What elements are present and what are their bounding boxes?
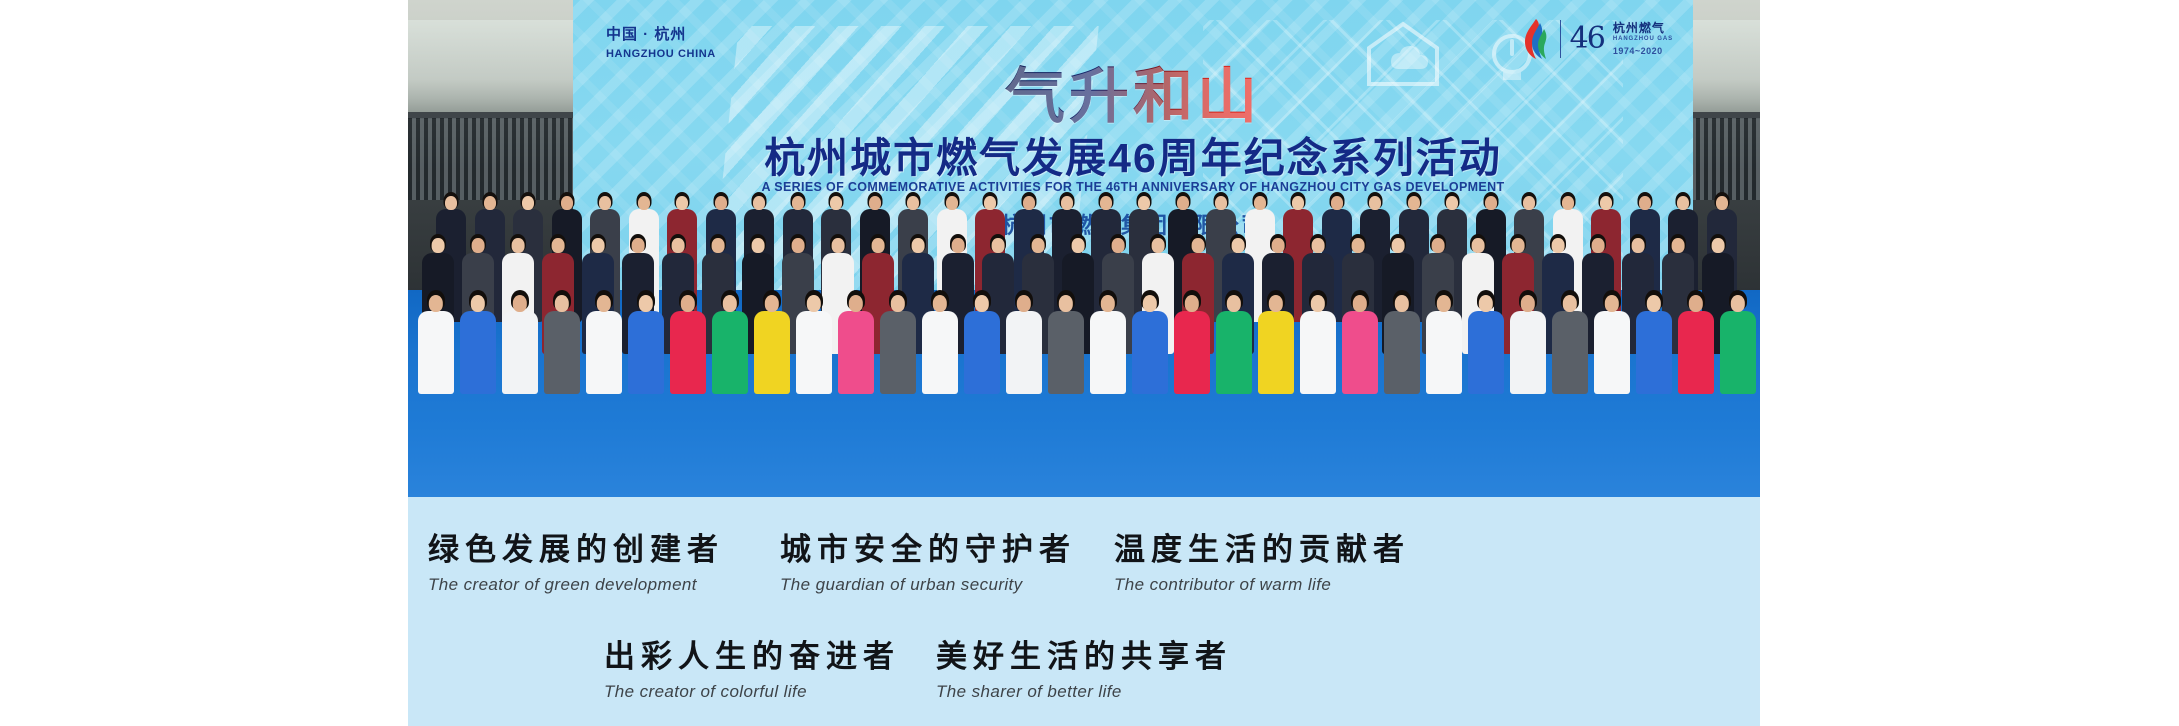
person-torso <box>1132 311 1168 394</box>
person-torso <box>544 311 580 394</box>
person-torso <box>1384 311 1420 394</box>
person-head <box>1605 295 1619 312</box>
person-torso <box>628 311 664 394</box>
person <box>1468 290 1504 394</box>
person-head <box>1512 238 1525 253</box>
person-head <box>599 196 611 210</box>
person-head <box>1311 295 1325 312</box>
person-head <box>1677 196 1689 210</box>
person-torso <box>880 311 916 394</box>
person-head <box>471 295 485 312</box>
person-head <box>676 196 688 210</box>
person-head <box>1185 295 1199 312</box>
person-head <box>1472 238 1485 253</box>
person-head <box>1632 238 1645 253</box>
person <box>796 290 832 394</box>
person-torso <box>1090 311 1126 394</box>
person-head <box>975 295 989 312</box>
slogan-cn: 美好生活的共享者 <box>936 640 1232 674</box>
person-torso <box>1258 311 1294 394</box>
slogan-en: The creator of colorful life <box>604 682 900 702</box>
person-head <box>638 196 650 210</box>
person-torso <box>922 311 958 394</box>
person <box>1510 290 1546 394</box>
person-head <box>912 238 925 253</box>
logo-name-cn: 杭州燃气 <box>1613 21 1673 36</box>
person-head <box>552 238 565 253</box>
group-photo-crowd <box>408 170 1760 400</box>
person-head <box>869 196 881 210</box>
person <box>1720 290 1756 394</box>
person-head <box>807 295 821 312</box>
person-head <box>1731 295 1745 312</box>
person <box>922 290 958 394</box>
person-head <box>1112 238 1125 253</box>
person-head <box>1138 196 1150 210</box>
person <box>1594 290 1630 394</box>
person-torso <box>1300 311 1336 394</box>
person <box>1132 290 1168 394</box>
slogan-en: The creator of green development <box>428 575 724 595</box>
person-torso <box>1552 311 1588 394</box>
person-head <box>1352 238 1365 253</box>
person-head <box>1562 196 1574 210</box>
person-head <box>891 295 905 312</box>
person <box>586 290 622 394</box>
person-head <box>1479 295 1493 312</box>
person <box>502 290 538 394</box>
location-cn: 中国 · 杭州 <box>606 26 716 45</box>
person-head <box>1592 238 1605 253</box>
person-torso <box>502 311 538 394</box>
person-torso <box>796 311 832 394</box>
slogan-item-2: 城市安全的守护者 The guardian of urban security <box>780 533 1076 595</box>
person-head <box>1227 295 1241 312</box>
person-torso <box>670 311 706 394</box>
slogan-en: The guardian of urban security <box>780 575 1076 595</box>
person <box>1552 290 1588 394</box>
person-head <box>1552 238 1565 253</box>
person <box>964 290 1000 394</box>
person <box>754 290 790 394</box>
person <box>1426 290 1462 394</box>
person <box>838 290 874 394</box>
person-torso <box>418 311 454 394</box>
person-head <box>1485 196 1497 210</box>
person-head <box>1563 295 1577 312</box>
slogan-en: The contributor of warm life <box>1114 575 1410 595</box>
calligraphy-title: 气升和山 <box>573 48 1693 135</box>
person-head <box>753 196 765 210</box>
person-head <box>1392 238 1405 253</box>
person-torso <box>1342 311 1378 394</box>
person <box>1048 290 1084 394</box>
person-head <box>712 238 725 253</box>
person-torso <box>1216 311 1252 394</box>
person <box>418 290 454 394</box>
person-head <box>1395 295 1409 312</box>
person-torso <box>1510 311 1546 394</box>
slogan-cn: 绿色发展的创建者 <box>428 533 724 567</box>
person-head <box>1408 196 1420 210</box>
person-torso <box>1636 311 1672 394</box>
person-head <box>752 238 765 253</box>
person-torso <box>460 311 496 394</box>
person-head <box>765 295 779 312</box>
person-torso <box>1048 311 1084 394</box>
person-head <box>1177 196 1189 210</box>
slogan-item-5: 美好生活的共享者 The sharer of better life <box>936 640 1232 702</box>
person-head <box>1369 196 1381 210</box>
person-head <box>672 238 685 253</box>
person-head <box>513 295 527 312</box>
person-head <box>1647 295 1661 312</box>
person-torso <box>586 311 622 394</box>
person-head <box>1032 238 1045 253</box>
person-head <box>681 295 695 312</box>
person-torso <box>838 311 874 394</box>
person-head <box>632 238 645 253</box>
person-head <box>1446 196 1458 210</box>
person-torso <box>1468 311 1504 394</box>
calligraphy-title-text: 气升和山 <box>1005 62 1261 132</box>
content-panel: 中国 · 杭州 HANGZHOU CHINA 46 杭州燃气 HANGZHOU … <box>408 0 1760 726</box>
slogan-cn: 出彩人生的奋进者 <box>604 640 900 674</box>
person-torso <box>754 311 790 394</box>
person-head <box>555 295 569 312</box>
person-torso <box>1006 311 1042 394</box>
person <box>1678 290 1714 394</box>
person-head <box>1100 196 1112 210</box>
person <box>880 290 916 394</box>
person <box>1384 290 1420 394</box>
person <box>1258 290 1294 394</box>
person-head <box>472 238 485 253</box>
person-head <box>1689 295 1703 312</box>
slogan-cn: 温度生活的贡献者 <box>1114 533 1410 567</box>
person-torso <box>1594 311 1630 394</box>
person-head <box>1672 238 1685 253</box>
person-head <box>1523 196 1535 210</box>
person <box>1006 290 1042 394</box>
person-head <box>1432 238 1445 253</box>
person-head <box>432 238 445 253</box>
person-torso <box>964 311 1000 394</box>
page-root: 中国 · 杭州 HANGZHOU CHINA 46 杭州燃气 HANGZHOU … <box>0 0 2179 726</box>
person-head <box>872 238 885 253</box>
person <box>544 290 580 394</box>
person <box>670 290 706 394</box>
person-head <box>592 238 605 253</box>
person-head <box>1192 238 1205 253</box>
person-head <box>849 295 863 312</box>
person-head <box>1269 295 1283 312</box>
person-head <box>1072 238 1085 253</box>
person-head <box>1437 295 1451 312</box>
slogan-cn: 城市安全的守护者 <box>780 533 1076 567</box>
person-head <box>1716 196 1728 210</box>
person-head <box>715 196 727 210</box>
person-torso <box>1426 311 1462 394</box>
person-head <box>1292 196 1304 210</box>
person-head <box>1331 196 1343 210</box>
person-head <box>830 196 842 210</box>
person-head <box>1254 196 1266 210</box>
person-head <box>597 295 611 312</box>
person <box>1174 290 1210 394</box>
person-head <box>1017 295 1031 312</box>
person-head <box>1272 238 1285 253</box>
person-head <box>1712 238 1725 253</box>
person-head <box>1061 196 1073 210</box>
person-head <box>723 295 737 312</box>
person-head <box>1143 295 1157 312</box>
person-head <box>1059 295 1073 312</box>
event-group-photo: 中国 · 杭州 HANGZHOU CHINA 46 杭州燃气 HANGZHOU … <box>408 0 1760 497</box>
person-torso <box>1720 311 1756 394</box>
person <box>712 290 748 394</box>
person-head <box>984 196 996 210</box>
person-head <box>946 196 958 210</box>
person <box>1636 290 1672 394</box>
person-head <box>429 295 443 312</box>
person-head <box>792 196 804 210</box>
person-head <box>1312 238 1325 253</box>
person-torso <box>1678 311 1714 394</box>
slogan-item-3: 温度生活的贡献者 The contributor of warm life <box>1114 533 1410 595</box>
person-head <box>832 238 845 253</box>
person <box>1216 290 1252 394</box>
person-head <box>1353 295 1367 312</box>
person-head <box>445 196 457 210</box>
person-head <box>1101 295 1115 312</box>
person <box>1300 290 1336 394</box>
person <box>1342 290 1378 394</box>
person-torso <box>712 311 748 394</box>
slogan-item-1: 绿色发展的创建者 The creator of green developmen… <box>428 533 724 595</box>
person-torso <box>1174 311 1210 394</box>
slogan-section: 绿色发展的创建者 The creator of green developmen… <box>408 497 1760 726</box>
person-head <box>907 196 919 210</box>
person-head <box>933 295 947 312</box>
slogan-item-4: 出彩人生的奋进者 The creator of colorful life <box>604 640 900 702</box>
person-head <box>512 238 525 253</box>
person-head <box>992 238 1005 253</box>
person-head <box>1152 238 1165 253</box>
person-head <box>1600 196 1612 210</box>
person-head <box>1232 238 1245 253</box>
person-head <box>1639 196 1651 210</box>
person-head <box>1023 196 1035 210</box>
person-head <box>522 196 534 210</box>
slogan-en: The sharer of better life <box>936 682 1232 702</box>
person-head <box>639 295 653 312</box>
person <box>628 290 664 394</box>
person-head <box>1521 295 1535 312</box>
person <box>460 290 496 394</box>
person-head <box>561 196 573 210</box>
person-head <box>792 238 805 253</box>
logo-name-en: HANGZHOU GAS <box>1613 36 1673 44</box>
person-head <box>952 238 965 253</box>
person-head <box>484 196 496 210</box>
person <box>1090 290 1126 394</box>
person-head <box>1215 196 1227 210</box>
